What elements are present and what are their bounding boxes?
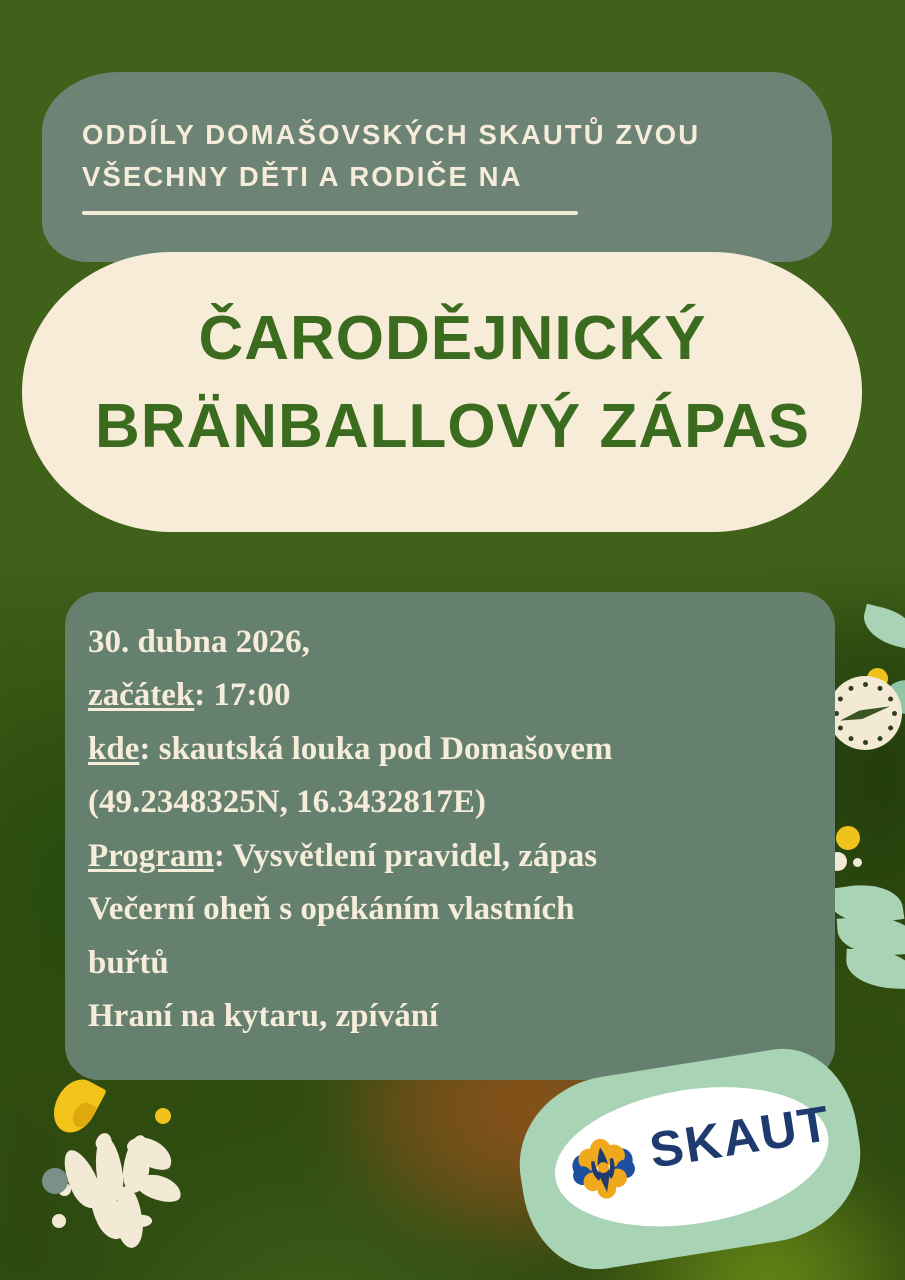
header-divider [82, 211, 578, 215]
event-coordinates: (49.2348325N, 16.3432817E) [88, 776, 788, 829]
header-line-1: ODDÍLY DOMAŠOVSKÝCH SKAUTŮ ZVOU [82, 119, 700, 150]
program-line-4: Hraní na kytaru, zpívání [88, 990, 788, 1043]
fleur-de-lis-icon [559, 1126, 648, 1215]
program-line-3: buřtů [88, 937, 788, 990]
event-start-time: začátek: 17:00 [88, 669, 788, 722]
start-value: : 17:00 [194, 677, 290, 713]
yellow-dot-icon [155, 1108, 171, 1124]
program-value: : Vysvětlení pravidel, zápas [214, 838, 597, 874]
cream-dot-small-icon [853, 858, 862, 867]
title-line-2: BRÄNBALLOVÝ ZÁPAS [0, 383, 905, 471]
program-line-2: Večerní oheň s opékáním vlastních [88, 883, 788, 936]
place-value: : skautská louka pod Domašovem [139, 731, 612, 767]
sage-dot-icon [42, 1168, 68, 1194]
place-label: kde [88, 731, 139, 767]
page-title: ČARODĚJNICKÝ BRÄNBALLOVÝ ZÁPAS [0, 295, 905, 471]
poster-canvas: ODDÍLY DOMAŠOVSKÝCH SKAUTŮ ZVOU VŠECHNY … [0, 0, 905, 1280]
program-label: Program [88, 838, 214, 874]
compass-icon [828, 676, 902, 750]
event-program: Program: Vysvětlení pravidel, zápas [88, 830, 788, 883]
header-line-2: VŠECHNY DĚTI A RODIČE NA [82, 161, 523, 192]
event-date: 30. dubna 2026, [88, 616, 788, 669]
compass-needle-icon [839, 702, 891, 725]
start-label: začátek [88, 677, 194, 713]
event-details-text: 30. dubna 2026, začátek: 17:00 kde: skau… [88, 616, 788, 1044]
event-place: kde: skautská louka pod Domašovem [88, 723, 788, 776]
title-line-1: ČARODĚJNICKÝ [0, 295, 905, 383]
yellow-dot-icon [836, 826, 860, 850]
header-invitation-text: ODDÍLY DOMAŠOVSKÝCH SKAUTŮ ZVOU VŠECHNY … [82, 114, 782, 198]
